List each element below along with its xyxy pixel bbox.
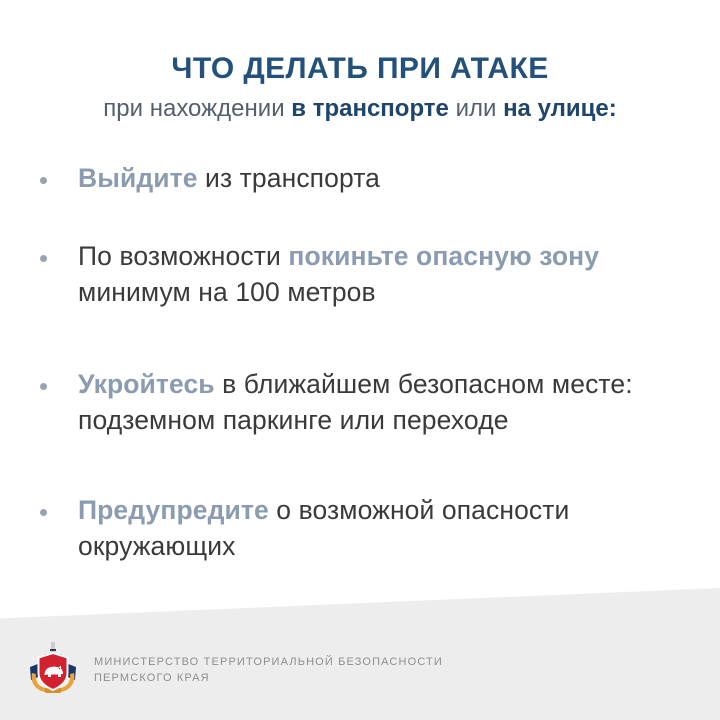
list-item-highlight: покиньте опасную зону xyxy=(288,241,599,271)
page-title: ЧТО ДЕЛАТЬ ПРИ АТАКЕ xyxy=(0,52,720,86)
poster-canvas: ЧТО ДЕЛАТЬ ПРИ АТАКЕ при нахождении в тр… xyxy=(0,0,720,720)
footer-organization-name: Министерство территориальной безопасност… xyxy=(94,654,443,687)
footer: Министерство территориальной безопасност… xyxy=(28,642,443,698)
list-item-highlight: Укройтесь xyxy=(78,369,215,399)
list-item-rest: минимум на 100 метров xyxy=(78,277,376,307)
footer-line-2: Пермского края xyxy=(94,670,443,687)
list-item-exit-transport: Выйдите из транспорта xyxy=(0,160,720,196)
bullet-dot-icon xyxy=(40,255,47,262)
subtitle: при нахождении в транспорте или на улице… xyxy=(0,95,720,124)
list-item-highlight: Предупредите xyxy=(78,495,269,525)
list-item-text: Укройтесь в ближайшем безопасном месте: … xyxy=(78,366,698,438)
footer-line-1: Министерство территориальной безопасност… xyxy=(94,654,443,671)
bullet-dot-icon xyxy=(40,509,47,516)
list-item-text: Предупредите о возможной опасности окруж… xyxy=(78,492,698,564)
list-item-text: Выйдите из транспорта xyxy=(78,160,698,196)
bullet-dot-icon xyxy=(40,383,47,390)
list-item-text: По возможности покиньте опасную зону мин… xyxy=(78,238,698,310)
subtitle-part-1-emphasis: в транспорте xyxy=(291,95,449,122)
list-item-rest: из транспорта xyxy=(198,163,380,193)
bullet-dot-icon xyxy=(40,177,47,184)
subtitle-part-2: или xyxy=(449,95,503,122)
list-item-take-shelter: Укройтесь в ближайшем безопасном месте: … xyxy=(0,366,720,438)
instruction-list: Выйдите из транспорта По возможности пок… xyxy=(0,160,720,564)
list-item-warn-others: Предупредите о возможной опасности окруж… xyxy=(0,492,720,564)
subtitle-part-3-emphasis: на улице: xyxy=(503,95,617,122)
list-item-leave-danger-zone: По возможности покиньте опасную зону мин… xyxy=(0,238,720,310)
list-item-lead: По возможности xyxy=(78,241,288,271)
subtitle-part-0: при нахождении xyxy=(103,95,291,122)
list-item-highlight: Выйдите xyxy=(78,163,198,193)
ministry-coat-of-arms-emblem-icon xyxy=(28,642,78,698)
header: ЧТО ДЕЛАТЬ ПРИ АТАКЕ при нахождении в тр… xyxy=(0,52,720,123)
